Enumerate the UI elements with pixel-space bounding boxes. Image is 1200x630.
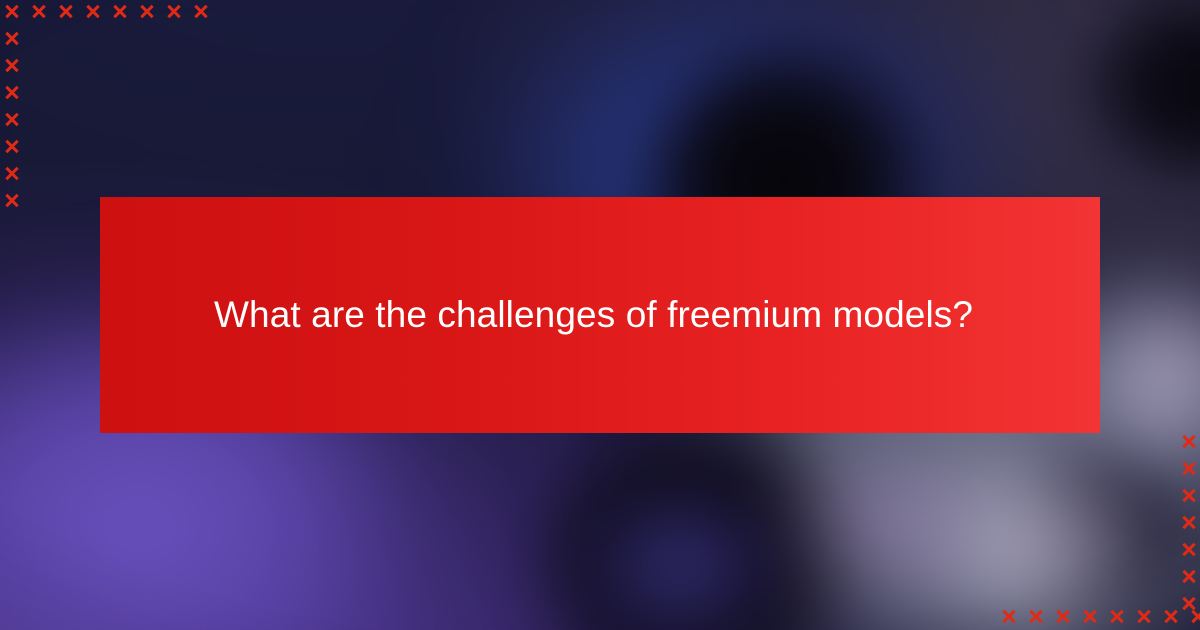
title-banner: What are the challenges of freemium mode… [100,197,1100,433]
page-title: What are the challenges of freemium mode… [214,292,973,338]
social-card: What are the challenges of freemium mode… [0,0,1200,630]
